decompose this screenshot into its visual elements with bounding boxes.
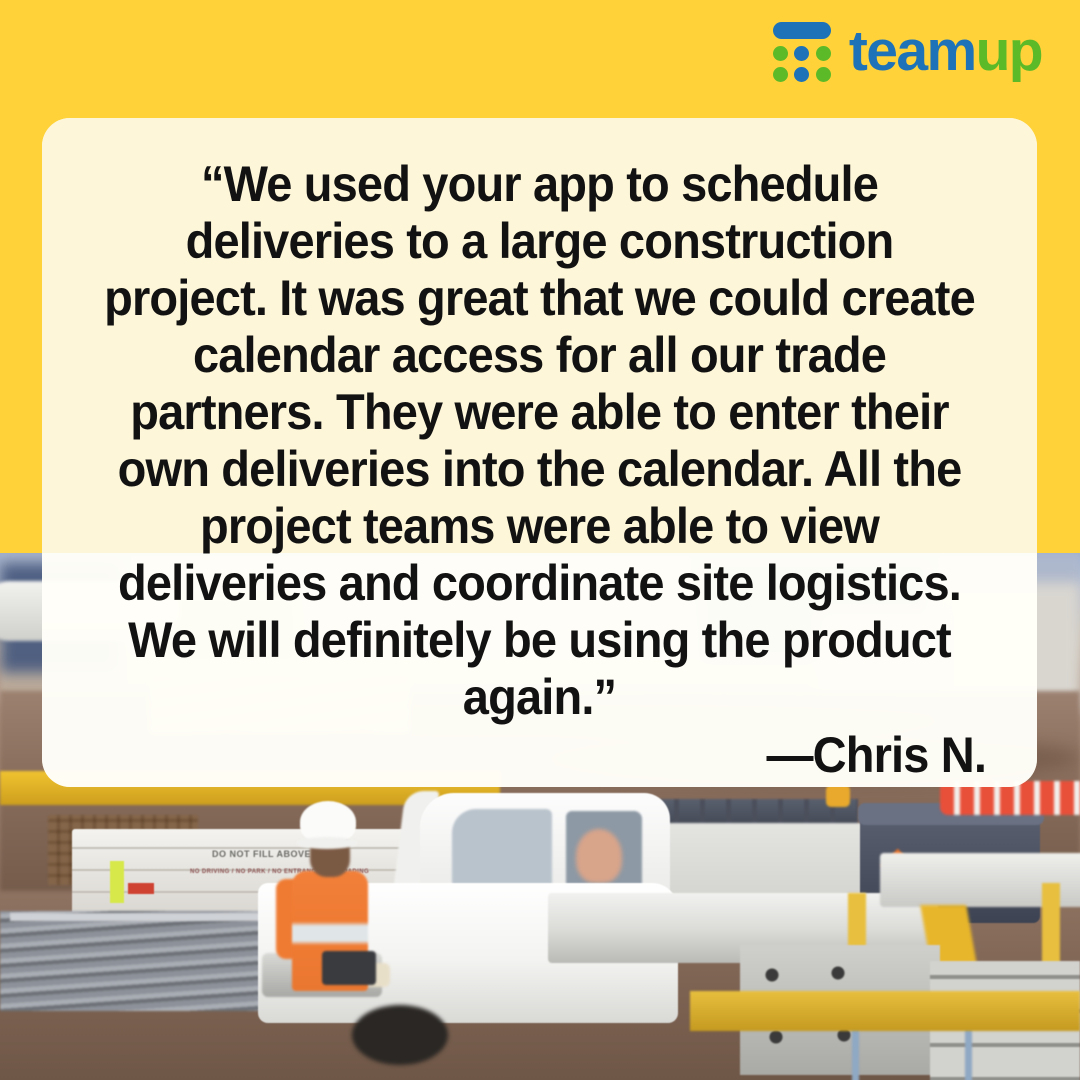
teamup-dot-grid-logo-icon <box>771 22 833 80</box>
logo-dot-green <box>773 46 788 61</box>
wordmark-team: team <box>849 19 976 83</box>
photo-panel-red-tag <box>128 883 154 894</box>
photo-panel-yellow-tag <box>110 861 124 903</box>
logo-dot-blue <box>794 67 809 82</box>
photo-truck-driver <box>576 829 622 883</box>
photo-truck-windscreen <box>452 809 552 891</box>
testimonial-attribution: —Chris N. <box>132 726 1003 784</box>
testimonial-quote-text: “We used your app to schedule deliveries… <box>104 156 975 726</box>
photo-worker-clipboard <box>322 951 376 985</box>
teamup-logo[interactable]: teamup <box>771 18 1042 84</box>
logo-dot-green <box>773 67 788 82</box>
logo-dot-blue <box>794 46 809 61</box>
photo-worker-hard-hat-brim <box>296 837 358 849</box>
photo-yellow-beam-2 <box>690 991 1080 1031</box>
teamup-wordmark: teamup <box>849 23 1042 80</box>
logo-dot-green <box>816 46 831 61</box>
photo-truck-wheel <box>352 1005 448 1065</box>
logo-dot-green <box>816 67 831 82</box>
wordmark-up: up <box>976 19 1042 83</box>
logo-bar-shape <box>773 22 831 39</box>
social-testimonial-card: DO NOT FILL ABOVE RIM NO DRIVING / NO PA… <box>0 0 1080 1080</box>
photo-amber-beacon <box>826 785 850 807</box>
testimonial-quote-card: “We used your app to schedule deliveries… <box>42 118 1037 787</box>
